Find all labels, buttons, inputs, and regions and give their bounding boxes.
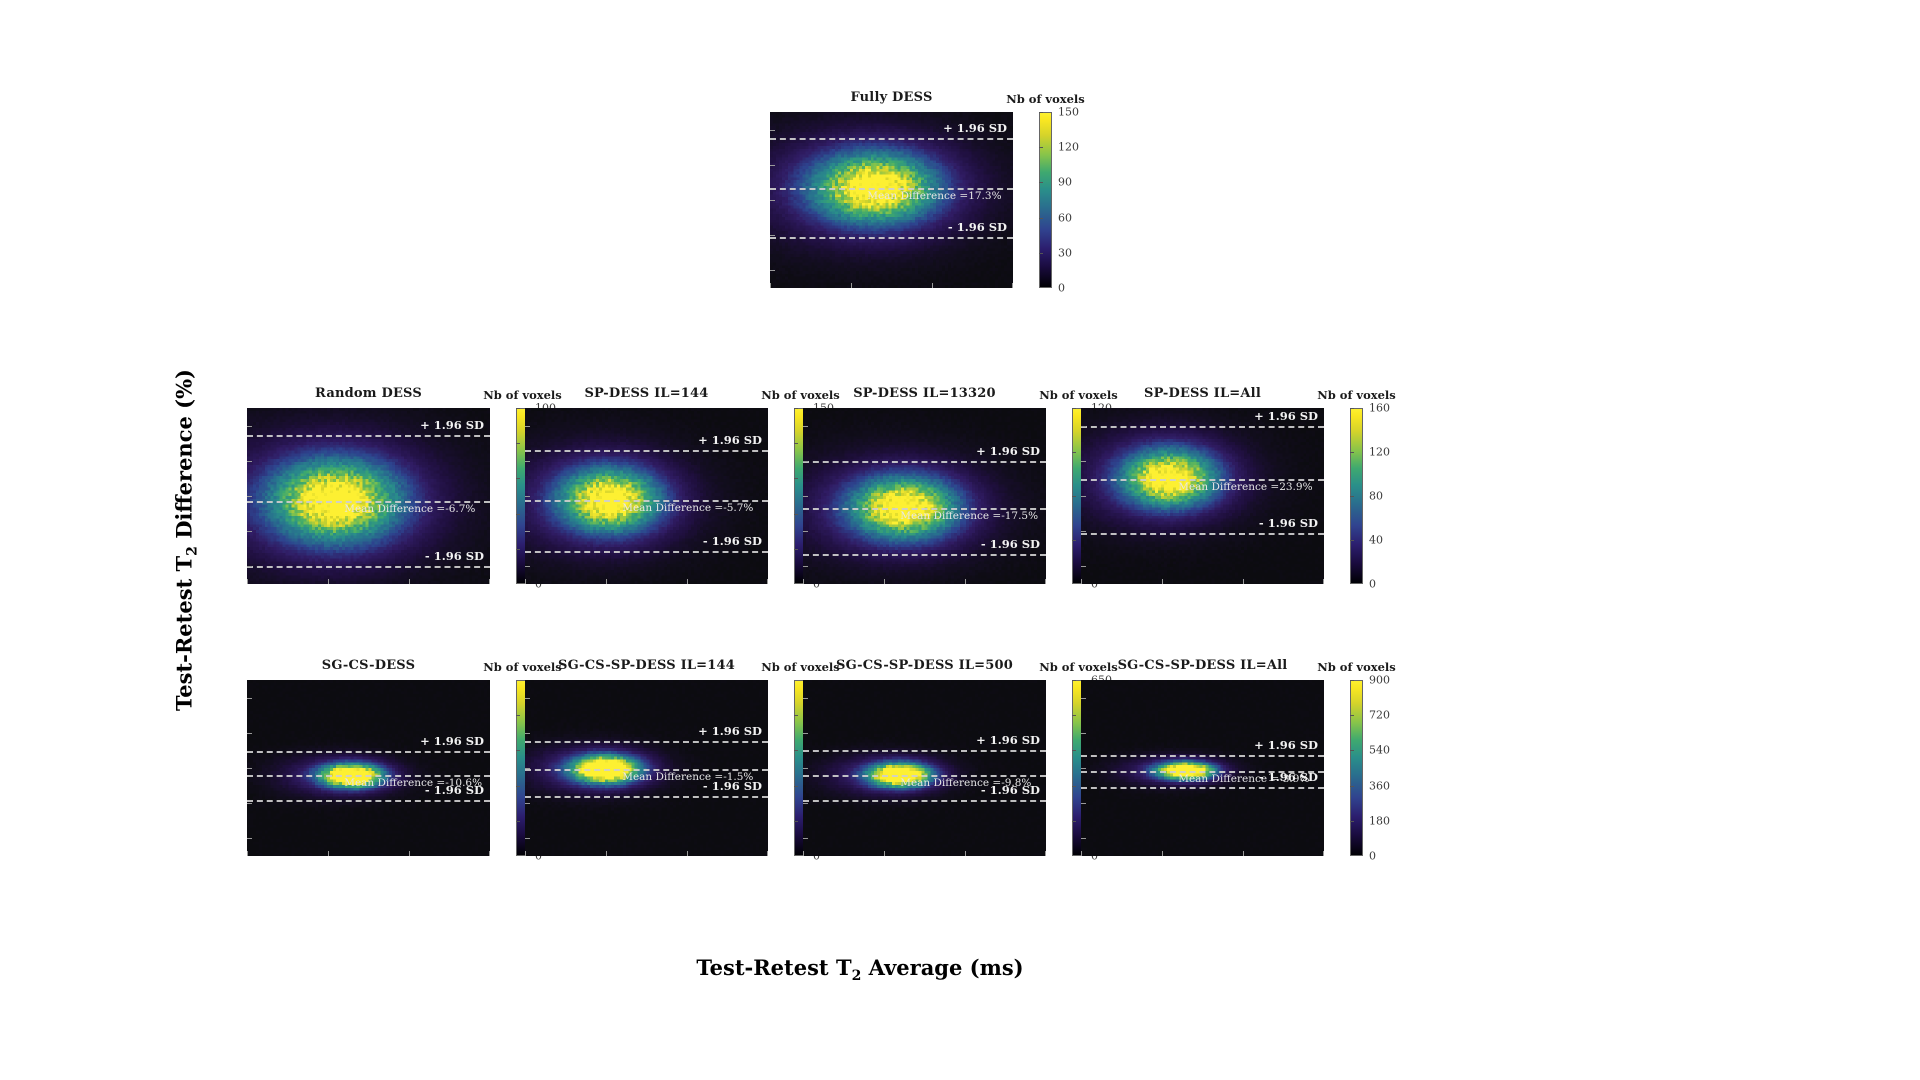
upper-loa-label-sp-dess-il-13320: + 1.96 SD: [976, 444, 1040, 458]
lower-loa-line-sp-dess-il-all: [1081, 533, 1324, 535]
colorbar-tick-mark: [794, 715, 798, 716]
upper-loa-label-sg-cs-dess: + 1.96 SD: [420, 734, 484, 748]
colorbar-tick-mark: [516, 408, 520, 409]
panel-sg-cs-sp-dess-il-all: SG-CS-SP-DESS IL=All+ 1.96 SDMean Differ…: [1081, 680, 1324, 856]
plot-area-sp-dess-il-all: + 1.96 SDMean Difference =23.9%- 1.96 SD…: [1081, 408, 1324, 584]
y-tick-mark: [1081, 698, 1086, 699]
colorbar-tick-mark: [1039, 147, 1043, 148]
y-tick-mark: [803, 496, 808, 497]
colorbar-tick-mark: [516, 443, 520, 444]
x-tick-mark: [965, 851, 966, 856]
lower-loa-label-sp-dess-il-144: - 1.96 SD: [703, 534, 762, 548]
x-tick-mark: [884, 579, 885, 584]
x-axis-label: Test-Retest T2 Average (ms): [696, 955, 1023, 984]
colorbar-fully-dess: Nb of voxels0306090120150: [1039, 112, 1052, 288]
y-tick-mark: [803, 461, 808, 462]
colorbar-tick-mark: [516, 478, 520, 479]
x-tick-mark: [687, 579, 688, 584]
y-tick-mark: [770, 130, 775, 131]
x-tick-mark: [1323, 851, 1324, 856]
upper-loa-line-fully-dess: [770, 138, 1013, 140]
panel-title-sp-dess-il-144: SP-DESS IL=144: [584, 386, 708, 401]
y-tick-mark: [1081, 803, 1086, 804]
colorbar-tick-mark: [1350, 408, 1354, 409]
colorbar-tick-label: 0: [1369, 850, 1376, 863]
colorbar-tick-mark: [794, 821, 798, 822]
density-heatmap-sp-dess-il-13320: [803, 408, 1046, 584]
colorbar-tick-label: 540: [1369, 744, 1390, 757]
colorbar-tick-label: 180: [1369, 814, 1390, 827]
panel-fully-dess: Fully DESS+ 1.96 SDMean Difference =17.3…: [770, 112, 1013, 288]
colorbar-tick-label: 80: [1369, 490, 1383, 503]
colorbar-tick-mark: [1072, 452, 1076, 453]
x-tick-mark: [489, 851, 490, 856]
colorbar-tick-mark: [1350, 540, 1354, 541]
y-tick-mark: [770, 270, 775, 271]
colorbar-title-fully-dess: Nb of voxels: [1006, 92, 1085, 106]
colorbar-tick-mark: [1039, 218, 1043, 219]
colorbar-title-random-dess: Nb of voxels: [483, 388, 562, 402]
upper-loa-line-random-dess: [247, 435, 490, 437]
x-tick-mark: [687, 851, 688, 856]
y-tick-mark: [247, 461, 252, 462]
y-tick-mark: [247, 698, 252, 699]
y-tick-mark: [1081, 496, 1086, 497]
plot-area-fully-dess: + 1.96 SDMean Difference =17.3%- 1.96 SD…: [770, 112, 1013, 288]
x-tick-mark: [803, 851, 804, 856]
colorbar-tick-label: 30: [1058, 246, 1072, 259]
plot-area-sg-cs-sp-dess-il-all: + 1.96 SDMean Difference =-3.9%- 1.96 SD…: [1081, 680, 1324, 856]
upper-loa-line-sp-dess-il-all: [1081, 426, 1324, 428]
colorbar-tick-mark: [1350, 821, 1354, 822]
density-heatmap-sp-dess-il-all: [1081, 408, 1324, 584]
x-tick-mark: [932, 283, 933, 288]
lower-loa-label-sg-cs-sp-dess-il-all: - 1.96 SD: [1259, 770, 1318, 784]
colorbar-tick-label: 150: [1058, 106, 1079, 119]
upper-loa-label-fully-dess: + 1.96 SD: [943, 121, 1007, 135]
lower-loa-label-sg-cs-dess: - 1.96 SD: [425, 783, 484, 797]
x-tick-mark: [1012, 283, 1013, 288]
colorbar-sp-dess-il-all: Nb of voxels04080120160: [1350, 408, 1363, 584]
colorbar-tick-mark: [516, 750, 520, 751]
colorbar-tick-mark: [1039, 112, 1043, 113]
lower-loa-label-fully-dess: - 1.96 SD: [948, 220, 1007, 234]
lower-loa-label-sp-dess-il-13320: - 1.96 SD: [981, 537, 1040, 551]
upper-loa-line-sp-dess-il-144: [525, 450, 768, 452]
lower-loa-line-sg-cs-dess: [247, 800, 490, 802]
mean-difference-label-random-dess: Mean Difference =-6.7%: [344, 503, 475, 515]
y-tick-mark: [525, 566, 530, 567]
colorbar-tick-mark: [516, 715, 520, 716]
colorbar-gradient-sg-cs-sp-dess-il-all: [1350, 680, 1363, 856]
panel-sp-dess-il-13320: SP-DESS IL=13320+ 1.96 SDMean Difference…: [803, 408, 1046, 584]
panel-title-sg-cs-sp-dess-il-144: SG-CS-SP-DESS IL=144: [558, 658, 735, 673]
y-tick-mark: [1081, 531, 1086, 532]
y-tick-mark: [525, 461, 530, 462]
plot-area-sg-cs-sp-dess-il-500: + 1.96 SDMean Difference =-9.8%- 1.96 SD…: [803, 680, 1046, 856]
figure-root: Test-Retest T2 Difference (%) Test-Retes…: [0, 0, 1920, 1080]
panel-title-sg-cs-sp-dess-il-all: SG-CS-SP-DESS IL=All: [1118, 658, 1288, 673]
plot-area-random-dess: + 1.96 SDMean Difference =-6.7%- 1.96 SD…: [247, 408, 490, 584]
colorbar-tick-label: 0: [1058, 282, 1065, 295]
y-tick-mark: [525, 803, 530, 804]
x-tick-mark: [1243, 851, 1244, 856]
x-tick-mark: [328, 851, 329, 856]
y-tick-mark: [525, 496, 530, 497]
x-tick-mark: [1162, 579, 1163, 584]
colorbar-tick-mark: [1039, 253, 1043, 254]
colorbar-tick-label: 160: [1369, 402, 1390, 415]
y-tick-mark: [247, 566, 252, 567]
mean-difference-label-sp-dess-il-144: Mean Difference =-5.7%: [622, 502, 753, 514]
colorbar-tick-mark: [794, 514, 798, 515]
y-tick-mark: [770, 200, 775, 201]
y-tick-mark: [525, 531, 530, 532]
x-tick-mark: [1162, 851, 1163, 856]
panel-title-sp-dess-il-all: SP-DESS IL=All: [1144, 386, 1261, 401]
colorbar-tick-label: 360: [1369, 779, 1390, 792]
x-tick-mark: [328, 579, 329, 584]
colorbar-tick-mark: [1039, 182, 1043, 183]
lower-loa-line-sg-cs-sp-dess-il-144: [525, 796, 768, 798]
colorbar-tick-mark: [516, 514, 520, 515]
colorbar-tick-mark: [1350, 680, 1354, 681]
upper-loa-label-sg-cs-sp-dess-il-500: + 1.96 SD: [976, 733, 1040, 747]
colorbar-tick-label: 120: [1369, 446, 1390, 459]
colorbar-tick-label: 60: [1058, 211, 1072, 224]
colorbar-title-sp-dess-il-13320: Nb of voxels: [1039, 388, 1118, 402]
lower-loa-line-fully-dess: [770, 237, 1013, 239]
lower-loa-line-sg-cs-sp-dess-il-500: [803, 800, 1046, 802]
upper-loa-line-sp-dess-il-13320: [803, 461, 1046, 463]
y-tick-mark: [1081, 733, 1086, 734]
y-tick-mark: [803, 531, 808, 532]
y-tick-mark: [1081, 838, 1086, 839]
colorbar-sg-cs-sp-dess-il-all: Nb of voxels0180360540720900: [1350, 680, 1363, 856]
y-tick-mark: [247, 496, 252, 497]
x-tick-mark: [409, 851, 410, 856]
mean-difference-label-sp-dess-il-all: Mean Difference =23.9%: [1178, 481, 1312, 493]
mean-difference-label-sp-dess-il-13320: Mean Difference =-17.5%: [900, 510, 1038, 522]
y-tick-mark: [803, 803, 808, 804]
panel-sg-cs-sp-dess-il-500: SG-CS-SP-DESS IL=500+ 1.96 SDMean Differ…: [803, 680, 1046, 856]
colorbar-tick-label: 120: [1058, 141, 1079, 154]
colorbar-tick-mark: [794, 478, 798, 479]
mean-difference-label-fully-dess: Mean Difference =17.3%: [867, 190, 1001, 202]
colorbar-title-sg-cs-sp-dess-il-all: Nb of voxels: [1317, 660, 1396, 674]
density-heatmap-sg-cs-dess: [247, 680, 490, 856]
colorbar-tick-label: 0: [1369, 578, 1376, 591]
x-tick-mark: [884, 851, 885, 856]
x-tick-mark: [247, 579, 248, 584]
colorbar-tick-label: 40: [1369, 534, 1383, 547]
plot-area-sp-dess-il-13320: + 1.96 SDMean Difference =-17.5%- 1.96 S…: [803, 408, 1046, 584]
upper-loa-label-sg-cs-sp-dess-il-144: + 1.96 SD: [698, 724, 762, 738]
colorbar-gradient-fully-dess: [1039, 112, 1052, 288]
y-axis-label: Test-Retest T2 Difference (%): [171, 369, 200, 711]
y-tick-mark: [1081, 461, 1086, 462]
y-tick-mark: [525, 768, 530, 769]
colorbar-tick-mark: [1350, 750, 1354, 751]
x-tick-mark: [489, 579, 490, 584]
colorbar-tick-mark: [1072, 821, 1076, 822]
colorbar-tick-mark: [794, 443, 798, 444]
upper-loa-label-sp-dess-il-all: + 1.96 SD: [1254, 409, 1318, 423]
panel-sg-cs-dess: SG-CS-DESS+ 1.96 SDMean Difference =-10.…: [247, 680, 490, 856]
x-tick-mark: [1081, 851, 1082, 856]
colorbar-tick-label: 720: [1369, 709, 1390, 722]
colorbar-tick-label: 900: [1369, 674, 1390, 687]
x-tick-mark: [1045, 851, 1046, 856]
x-tick-mark: [1045, 579, 1046, 584]
upper-loa-label-random-dess: + 1.96 SD: [420, 418, 484, 432]
colorbar-title-sp-dess-il-144: Nb of voxels: [761, 388, 840, 402]
y-tick-mark: [1081, 566, 1086, 567]
y-tick-mark: [1081, 426, 1086, 427]
x-tick-mark: [1081, 579, 1082, 584]
y-tick-mark: [770, 165, 775, 166]
y-tick-mark: [247, 733, 252, 734]
colorbar-tick-mark: [1072, 680, 1076, 681]
plot-area-sp-dess-il-144: + 1.96 SDMean Difference =-5.7%- 1.96 SD…: [525, 408, 768, 584]
x-tick-mark: [965, 579, 966, 584]
y-tick-mark: [803, 698, 808, 699]
colorbar-title-sg-cs-sp-dess-il-500: Nb of voxels: [1039, 660, 1118, 674]
colorbar-tick-mark: [1072, 408, 1076, 409]
y-tick-mark: [525, 698, 530, 699]
density-heatmap-sg-cs-sp-dess-il-144: [525, 680, 768, 856]
panel-random-dess: Random DESS+ 1.96 SDMean Difference =-6.…: [247, 408, 490, 584]
x-tick-mark: [247, 851, 248, 856]
y-tick-mark: [525, 838, 530, 839]
colorbar-tick-mark: [1350, 452, 1354, 453]
upper-loa-label-sg-cs-sp-dess-il-all: + 1.96 SD: [1254, 738, 1318, 752]
x-tick-mark: [525, 851, 526, 856]
x-tick-mark: [606, 579, 607, 584]
lower-loa-line-sg-cs-sp-dess-il-all: [1081, 787, 1324, 789]
x-tick-mark: [767, 851, 768, 856]
y-tick-mark: [525, 426, 530, 427]
x-tick-mark: [803, 579, 804, 584]
lower-loa-label-sg-cs-sp-dess-il-500: - 1.96 SD: [981, 783, 1040, 797]
colorbar-tick-mark: [1072, 715, 1076, 716]
colorbar-title-sp-dess-il-all: Nb of voxels: [1317, 388, 1396, 402]
y-tick-mark: [803, 733, 808, 734]
y-tick-mark: [247, 531, 252, 532]
x-tick-mark: [851, 283, 852, 288]
y-tick-mark: [770, 235, 775, 236]
colorbar-tick-label: 90: [1058, 176, 1072, 189]
colorbar-tick-mark: [516, 786, 520, 787]
panel-title-sg-cs-sp-dess-il-500: SG-CS-SP-DESS IL=500: [836, 658, 1013, 673]
panel-title-sp-dess-il-13320: SP-DESS IL=13320: [853, 386, 996, 401]
lower-loa-line-random-dess: [247, 566, 490, 568]
y-tick-mark: [803, 426, 808, 427]
x-tick-mark: [409, 579, 410, 584]
colorbar-title-sg-cs-sp-dess-il-144: Nb of voxels: [761, 660, 840, 674]
density-heatmap-sg-cs-sp-dess-il-all: [1081, 680, 1324, 856]
y-tick-mark: [803, 566, 808, 567]
x-tick-mark: [525, 579, 526, 584]
x-tick-mark: [767, 579, 768, 584]
y-tick-mark: [247, 426, 252, 427]
y-tick-mark: [803, 838, 808, 839]
colorbar-title-sg-cs-dess: Nb of voxels: [483, 660, 562, 674]
x-tick-mark: [1243, 579, 1244, 584]
panel-sp-dess-il-all: SP-DESS IL=All+ 1.96 SDMean Difference =…: [1081, 408, 1324, 584]
y-tick-mark: [247, 768, 252, 769]
plot-area-sg-cs-sp-dess-il-144: + 1.96 SDMean Difference =-1.5%- 1.96 SD…: [525, 680, 768, 856]
colorbar-tick-mark: [1072, 540, 1076, 541]
x-tick-mark: [770, 283, 771, 288]
panel-title-sg-cs-dess: SG-CS-DESS: [322, 658, 415, 673]
y-tick-mark: [247, 838, 252, 839]
lower-loa-label-random-dess: - 1.96 SD: [425, 549, 484, 563]
x-tick-mark: [1323, 579, 1324, 584]
y-tick-mark: [1081, 768, 1086, 769]
upper-loa-line-sg-cs-sp-dess-il-500: [803, 750, 1046, 752]
colorbar-tick-mark: [794, 408, 798, 409]
colorbar-tick-mark: [794, 549, 798, 550]
colorbar-tick-mark: [1072, 786, 1076, 787]
colorbar-tick-mark: [1350, 715, 1354, 716]
panel-sg-cs-sp-dess-il-144: SG-CS-SP-DESS IL=144+ 1.96 SDMean Differ…: [525, 680, 768, 856]
panel-title-fully-dess: Fully DESS: [850, 90, 932, 105]
lower-loa-line-sp-dess-il-13320: [803, 554, 1046, 556]
y-tick-mark: [803, 768, 808, 769]
colorbar-tick-mark: [516, 549, 520, 550]
colorbar-tick-mark: [1072, 750, 1076, 751]
x-tick-mark: [606, 851, 607, 856]
colorbar-tick-mark: [1350, 496, 1354, 497]
colorbar-tick-mark: [1072, 496, 1076, 497]
lower-loa-line-sp-dess-il-144: [525, 551, 768, 553]
upper-loa-label-sp-dess-il-144: + 1.96 SD: [698, 433, 762, 447]
panel-title-random-dess: Random DESS: [315, 386, 422, 401]
y-tick-mark: [247, 803, 252, 804]
plot-area-sg-cs-dess: + 1.96 SDMean Difference =-10.6%- 1.96 S…: [247, 680, 490, 856]
density-heatmap-sg-cs-sp-dess-il-500: [803, 680, 1046, 856]
upper-loa-line-sg-cs-sp-dess-il-144: [525, 741, 768, 743]
upper-loa-line-sg-cs-sp-dess-il-all: [1081, 755, 1324, 757]
lower-loa-label-sp-dess-il-all: - 1.96 SD: [1259, 516, 1318, 530]
upper-loa-line-sg-cs-dess: [247, 751, 490, 753]
y-tick-mark: [525, 733, 530, 734]
colorbar-tick-mark: [1350, 786, 1354, 787]
colorbar-tick-mark: [794, 750, 798, 751]
lower-loa-label-sg-cs-sp-dess-il-144: - 1.96 SD: [703, 779, 762, 793]
panel-sp-dess-il-144: SP-DESS IL=144+ 1.96 SDMean Difference =…: [525, 408, 768, 584]
colorbar-tick-mark: [794, 786, 798, 787]
colorbar-tick-mark: [516, 821, 520, 822]
